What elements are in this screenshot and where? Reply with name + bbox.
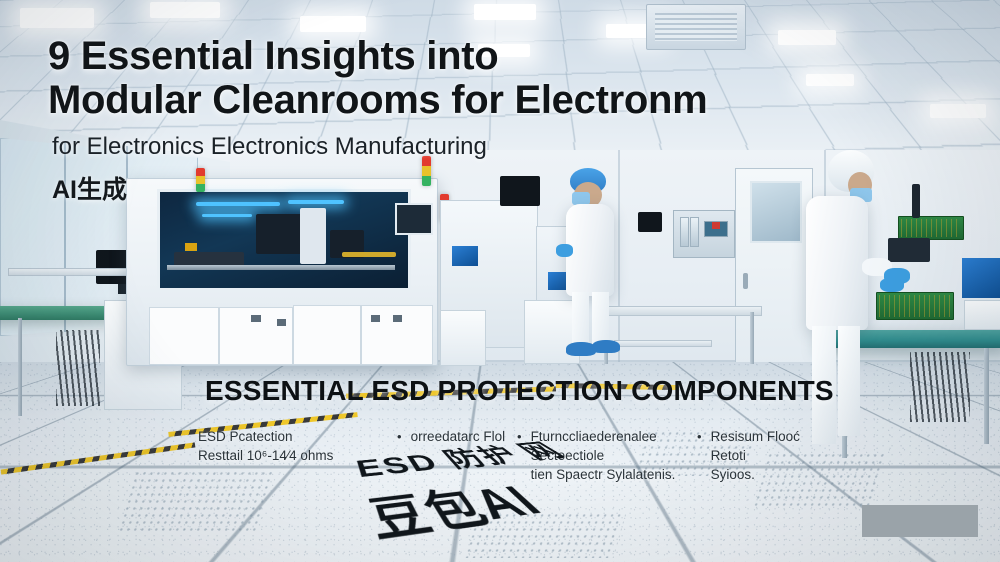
- coverall-leg: [572, 292, 589, 348]
- inspection-monitor: [962, 258, 1000, 298]
- pcb-assembly: [876, 292, 954, 320]
- door-handle: [743, 273, 748, 289]
- glove-blue: [556, 244, 573, 257]
- wall-seam: [618, 150, 620, 362]
- stainless-worktable: [596, 306, 762, 316]
- cleanroom-infographic-image: 9 Essential Insights into Modular Cleanr…: [0, 0, 1000, 562]
- machine-head: [300, 208, 326, 264]
- bullet-text: Resisum Flooć Retoti Syioos.: [711, 427, 828, 484]
- ai-generated-badge: AI生成: [52, 170, 127, 206]
- monitor-mid-secondary: [638, 212, 662, 232]
- machine-viewing-window: [157, 189, 411, 291]
- headline-line-1: 9 Essential Insights into: [48, 34, 808, 78]
- pcb-assembly: [898, 216, 964, 240]
- uv-lamp: [288, 200, 344, 204]
- monitor-mid: [500, 176, 540, 206]
- bullet-separator-icon: •: [397, 427, 402, 446]
- ceiling-light-panel: [300, 16, 366, 32]
- bullet-item: • Resisum Flooć Retoti Syioos.: [688, 427, 828, 484]
- panel-gauge: [680, 217, 689, 247]
- cleanroom-coverall: [566, 204, 614, 296]
- panel-gauge: [690, 217, 699, 247]
- machine-base-panel: [149, 307, 219, 365]
- uv-lamp: [196, 202, 280, 206]
- monitor-stand: [118, 284, 126, 294]
- wall-emergency-indicator: [712, 222, 720, 229]
- machine-screen-blue: [452, 246, 478, 266]
- inspection-arm: [912, 184, 920, 218]
- glove-blue: [880, 278, 904, 292]
- bench-leg: [18, 318, 22, 416]
- coverall-leg: [838, 326, 860, 436]
- machine-base-panel: [293, 305, 361, 365]
- wall-control-panel: [673, 210, 735, 258]
- bench-drawer-unit: [964, 300, 1000, 330]
- machine-gantry-rail: [167, 265, 395, 270]
- machine-head: [256, 214, 302, 254]
- machine-indicator: [277, 319, 286, 326]
- machine-indicator: [251, 315, 261, 322]
- headline-line-2: Modular Cleanrooms for Electronm: [48, 78, 808, 122]
- cleanroom-coverall: [806, 196, 868, 330]
- bullet-separator-icon: •: [697, 427, 702, 446]
- ceiling-light-panel: [20, 8, 94, 28]
- section-heading-esd: ESSENTIAL ESD PROTECTION COMPONENTS: [205, 375, 825, 407]
- equipment-cabinet: [440, 310, 486, 366]
- subtitle: for Electronics Electronics Manufacturin…: [52, 133, 487, 161]
- ceiling-light-panel: [474, 4, 536, 20]
- ceiling-light-panel: [806, 74, 854, 86]
- redaction-box: [862, 505, 978, 537]
- coverall-leg: [592, 292, 609, 346]
- machine-warning-label: [185, 243, 197, 251]
- door-vision-panel: [750, 181, 802, 243]
- wall-shelf-left: [8, 268, 136, 276]
- andon-signal-tower: [196, 168, 205, 192]
- bullet-text: ESD Pcatection Resttail 10⁶-14⁄4 ohms: [198, 427, 333, 465]
- shoe-cover-blue: [592, 340, 620, 353]
- machine-rail-yellow: [342, 252, 396, 257]
- lower-shelf: [614, 340, 712, 347]
- uv-lamp: [202, 214, 252, 217]
- cable-bundle: [910, 352, 970, 422]
- headline: 9 Essential Insights into Modular Cleanr…: [48, 34, 808, 122]
- table-leg: [750, 312, 754, 364]
- machine-indicator: [371, 315, 380, 322]
- ceiling-light-panel: [930, 104, 986, 118]
- bench-leg: [984, 348, 989, 444]
- cleanroom-door: [735, 168, 813, 366]
- inspection-base: [888, 238, 930, 262]
- machine-base-panel: [361, 305, 433, 365]
- ceiling-light-panel: [150, 2, 220, 18]
- cable-bundle: [56, 330, 100, 406]
- smt-printing-machine: [126, 178, 438, 366]
- machine-indicator: [393, 315, 402, 322]
- machine-hmi-touchscreen[interactable]: [395, 203, 433, 235]
